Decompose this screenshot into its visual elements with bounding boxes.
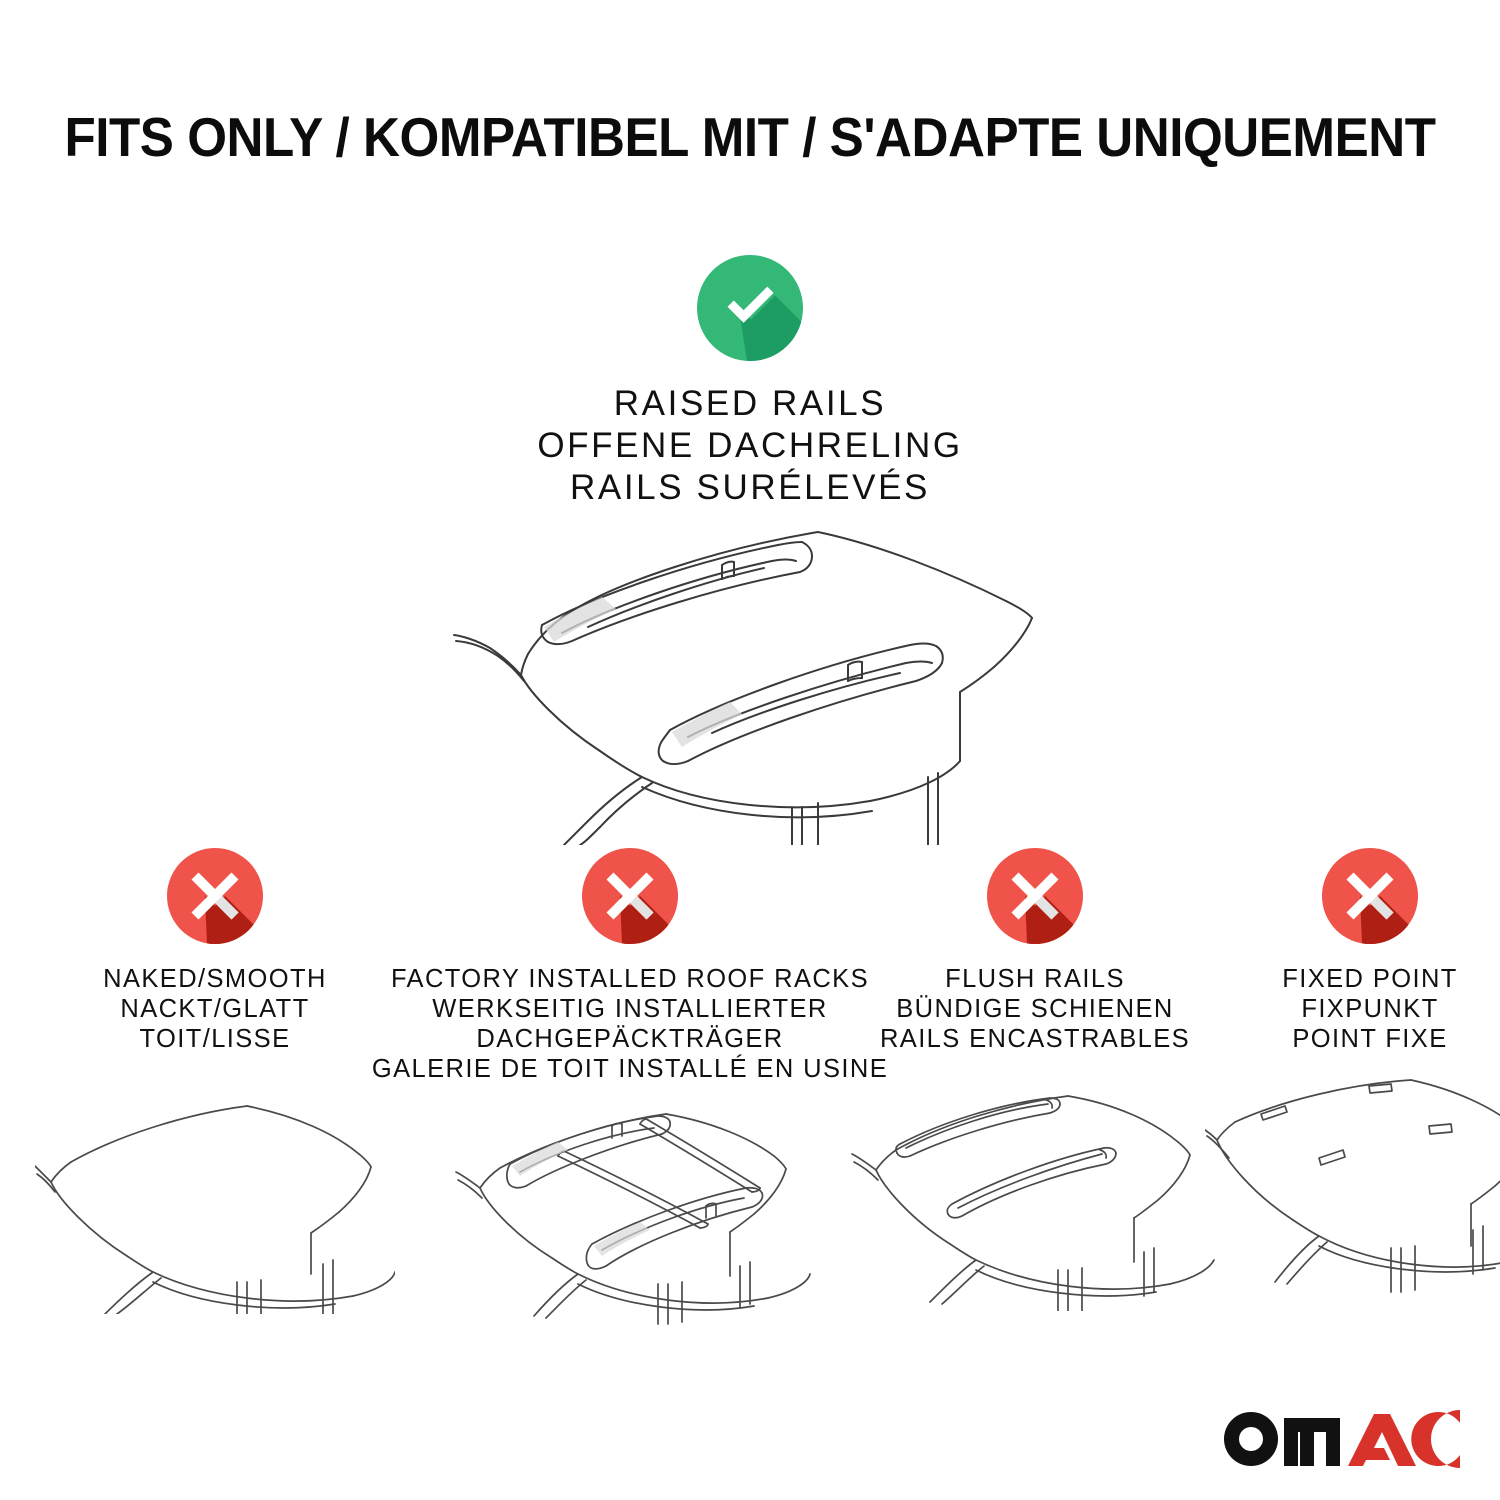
cross-circle-icon <box>987 848 1083 944</box>
brand-logo: OMAC <box>1222 1410 1462 1468</box>
incompatible-item-factory-roof-racks: FACTORY INSTALLED ROOF RACKS WERKSEITIG … <box>430 848 830 1338</box>
incompatible-labels: FIXED POINT FIXPUNKT POINT FIXE <box>1282 964 1458 1054</box>
cross-circle-icon <box>582 848 678 944</box>
car-roof-flush-rails-illustration <box>850 1076 1220 1311</box>
label-en: FLUSH RAILS <box>880 964 1190 994</box>
label-de: BÜNDIGE SCHIENEN <box>880 994 1190 1024</box>
page-title: FITS ONLY / KOMPATIBEL MIT / S'ADAPTE UN… <box>53 106 1448 168</box>
label-en: FIXED POINT <box>1282 964 1458 994</box>
cross-circle-icon <box>167 848 263 944</box>
label-en: FACTORY INSTALLED ROOF RACKS <box>372 964 888 994</box>
label-de-2: DACHGEPÄCKTRÄGER <box>372 1024 888 1054</box>
incompatible-item-naked-smooth: NAKED/SMOOTH NACKT/GLATT TOIT/LISSE <box>0 848 430 1338</box>
label-de: FIXPUNKT <box>1282 994 1458 1024</box>
label-fr: POINT FIXE <box>1282 1024 1458 1054</box>
label-de-1: WERKSEITIG INSTALLIERTER <box>372 994 888 1024</box>
compatible-section: RAISED RAILS OFFENE DACHRELING RAILS SUR… <box>0 255 1500 845</box>
car-roof-fixed-point-illustration <box>1205 1074 1500 1304</box>
compatible-labels: RAISED RAILS OFFENE DACHRELING RAILS SUR… <box>0 383 1500 509</box>
check-circle-icon <box>697 255 803 361</box>
car-roof-factory-roof-racks-illustration <box>440 1088 820 1338</box>
label-fr: GALERIE DE TOIT INSTALLÉ EN USINE <box>372 1054 888 1084</box>
cross-circle-icon <box>1322 848 1418 944</box>
label-fr: TOIT/LISSE <box>103 1024 327 1054</box>
incompatible-item-fixed-point: FIXED POINT FIXPUNKT POINT FIXE <box>1240 848 1500 1338</box>
car-roof-raised-rails-illustration <box>420 515 1080 845</box>
label-fr: RAILS ENCASTRABLES <box>880 1024 1190 1054</box>
car-roof-naked-smooth-illustration <box>35 1084 395 1314</box>
compatible-label-de: OFFENE DACHRELING <box>0 425 1500 467</box>
incompatible-labels: FLUSH RAILS BÜNDIGE SCHIENEN RAILS ENCAS… <box>880 964 1190 1054</box>
label-en: NAKED/SMOOTH <box>103 964 327 994</box>
compatible-label-en: RAISED RAILS <box>0 383 1500 425</box>
compatible-label-fr: RAILS SURÉLEVÉS <box>0 467 1500 509</box>
label-de: NACKT/GLATT <box>103 994 327 1024</box>
incompatible-labels: NAKED/SMOOTH NACKT/GLATT TOIT/LISSE <box>103 964 327 1054</box>
incompatible-section: NAKED/SMOOTH NACKT/GLATT TOIT/LISSE <box>0 848 1500 1338</box>
incompatible-labels: FACTORY INSTALLED ROOF RACKS WERKSEITIG … <box>372 964 888 1084</box>
incompatible-item-flush-rails: FLUSH RAILS BÜNDIGE SCHIENEN RAILS ENCAS… <box>830 848 1240 1338</box>
